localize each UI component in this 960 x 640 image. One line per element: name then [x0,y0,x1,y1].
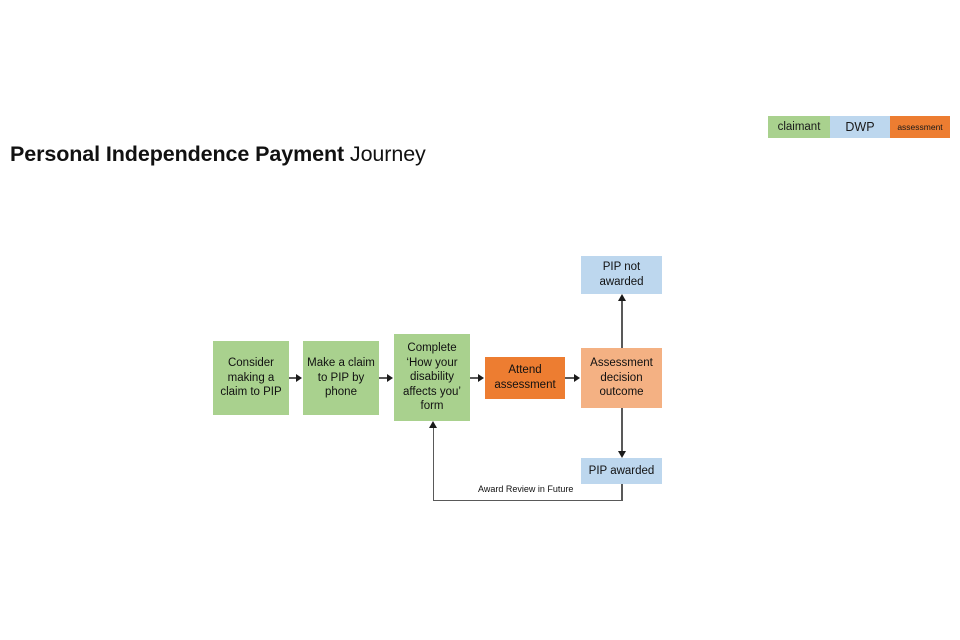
page-title: Personal Independence Payment Journey [10,142,426,167]
node-pip-not-awarded[interactable]: PIP not awarded [581,256,662,294]
page-title-bold: Personal Independence Payment [10,142,344,166]
node-complete-form[interactable]: Complete ‘How your disability affects yo… [394,334,470,421]
arrowhead-loop-to-form [429,421,437,428]
arrowhead-decision-to-awarded [618,451,626,458]
arrowhead-decision-to-not-awarded [618,294,626,301]
diagram-canvas: Personal Independence Payment Journey cl… [0,0,960,640]
loop-label-award-review: Award Review in Future [474,484,577,494]
loop-segment-down-from-awarded [621,484,623,501]
node-consider[interactable]: Consider making a claim to PIP [213,341,289,415]
connector-decision-to-awarded [621,408,623,456]
legend-item-dwp: DWP [830,116,890,138]
node-assessment-decision-outcome[interactable]: Assessment decision outcome [581,348,662,408]
node-pip-awarded[interactable]: PIP awarded [581,458,662,484]
node-make-claim[interactable]: Make a claim to PIP by phone [303,341,379,415]
node-attend-assessment[interactable]: Attend assessment [485,357,565,399]
page-title-light: Journey [344,142,426,166]
legend-item-assessment: assessment [890,116,950,138]
arrowhead-consider-to-make-claim [296,374,302,382]
arrowhead-form-to-attend [478,374,484,382]
arrowhead-attend-to-decision [574,374,580,382]
connector-decision-to-not-awarded [621,296,623,348]
loop-segment-up-to-form [433,427,435,500]
loop-segment-horizontal [433,500,623,502]
legend: claimant DWP assessment [768,116,950,138]
legend-item-claimant: claimant [768,116,830,138]
arrowhead-make-claim-to-form [387,374,393,382]
